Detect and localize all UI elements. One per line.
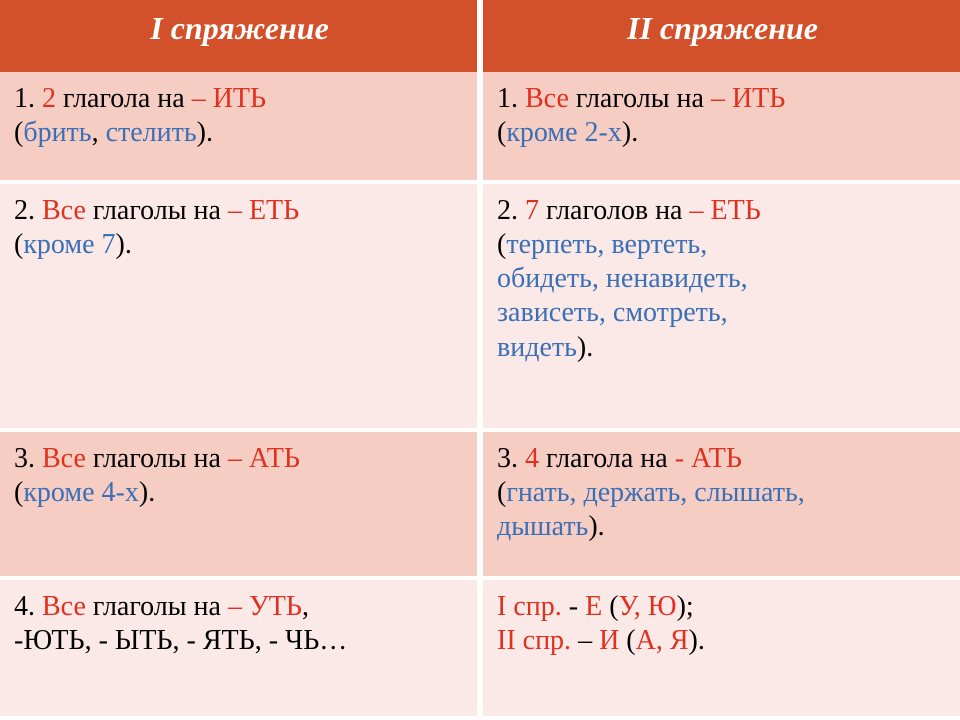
conjugation-table: I спряжение II спряжение 1. 2 глагола на… xyxy=(0,0,960,720)
rule-line: (кроме 2-х). xyxy=(497,116,948,150)
rule-line: (брить, стелить). xyxy=(14,116,465,150)
rule-line: I спр. - Е (У, Ю); xyxy=(497,590,948,624)
table-body: 1. 2 глагола на – ИТЬ (брить, стелить). … xyxy=(0,72,960,718)
rule-line: (гнать, держать, слышать, xyxy=(497,476,948,510)
cell-left-rule-4: 4. Все глаголы на – УТЬ, -ЮТЬ, - ЫТЬ, - … xyxy=(0,578,480,718)
table-row: 1. 2 глагола на – ИТЬ (брить, стелить). … xyxy=(0,72,960,182)
rule-line: 3. 4 глагола на - АТЬ xyxy=(497,442,948,476)
rule-line: 2. 7 глаголов на – ЕТЬ xyxy=(497,194,948,228)
rule-line: 2. Все глаголы на – ЕТЬ xyxy=(14,194,465,228)
rule-line: обидеть, ненавидеть, xyxy=(497,262,948,296)
rule-line: дышать). xyxy=(497,510,948,544)
rule-line: 4. Все глаголы на – УТЬ, xyxy=(14,590,465,624)
table-row: 2. Все глаголы на – ЕТЬ (кроме 7). 2. 7 … xyxy=(0,182,960,430)
rule-line: зависеть, смотреть, xyxy=(497,296,948,330)
rule-line: (кроме 4-х). xyxy=(14,476,465,510)
cell-left-rule-1: 1. 2 глагола на – ИТЬ (брить, стелить). xyxy=(0,72,480,182)
rule-line: 3. Все глаголы на – АТЬ xyxy=(14,442,465,476)
rule-line: -ЮТЬ, - ЫТЬ, - ЯТЬ, - ЧЬ… xyxy=(14,624,465,658)
rule-line: (кроме 7). xyxy=(14,228,465,262)
header-first-conjugation: I спряжение xyxy=(0,0,480,72)
cell-left-rule-3: 3. Все глаголы на – АТЬ (кроме 4-х). xyxy=(0,430,480,578)
rule-line: II спр. – И (А, Я). xyxy=(497,624,948,658)
cell-right-rule-2: 2. 7 глаголов на – ЕТЬ (терпеть, вертеть… xyxy=(480,182,960,430)
cell-left-rule-2: 2. Все глаголы на – ЕТЬ (кроме 7). xyxy=(0,182,480,430)
cell-right-rule-3: 3. 4 глагола на - АТЬ (гнать, держать, с… xyxy=(480,430,960,578)
conjugation-table-container: I спряжение II спряжение 1. 2 глагола на… xyxy=(0,0,960,720)
rule-line: (терпеть, вертеть, xyxy=(497,228,948,262)
table-header: I спряжение II спряжение xyxy=(0,0,960,72)
header-second-conjugation: II спряжение xyxy=(480,0,960,72)
rule-line: 1. 2 глагола на – ИТЬ xyxy=(14,82,465,116)
table-row: 3. Все глаголы на – АТЬ (кроме 4-х). 3. … xyxy=(0,430,960,578)
cell-right-rule-4: I спр. - Е (У, Ю); II спр. – И (А, Я). xyxy=(480,578,960,718)
header-row: I спряжение II спряжение xyxy=(0,0,960,72)
cell-right-rule-1: 1. Все глаголы на – ИТЬ (кроме 2-х). xyxy=(480,72,960,182)
rule-line: 1. Все глаголы на – ИТЬ xyxy=(497,82,948,116)
rule-line: видеть). xyxy=(497,331,948,365)
table-row: 4. Все глаголы на – УТЬ, -ЮТЬ, - ЫТЬ, - … xyxy=(0,578,960,718)
